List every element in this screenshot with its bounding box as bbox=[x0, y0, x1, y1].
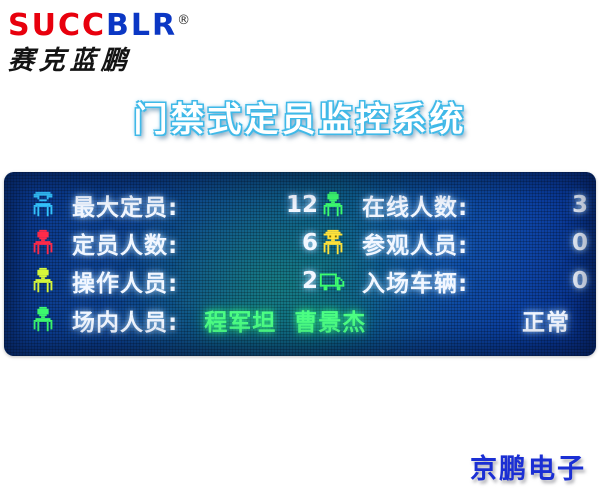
led-value: 2 bbox=[284, 268, 318, 294]
led-value: 12 bbox=[284, 192, 318, 218]
led-content: 最大定员: 12 在线人数: 3 bbox=[4, 172, 596, 356]
led-row: 最大定员: 12 在线人数: 3 bbox=[28, 186, 584, 224]
company-logo-chinese: 赛克蓝鹏 bbox=[7, 45, 219, 77]
logo-text-succ: SUCC bbox=[8, 8, 106, 43]
led-label: 在线人数: bbox=[362, 188, 554, 222]
led-value: 3 bbox=[554, 192, 588, 218]
led-label: 操作人员: bbox=[72, 264, 284, 298]
person-icon bbox=[28, 228, 58, 258]
led-label: 定员人数: bbox=[72, 226, 284, 260]
person-cap-icon bbox=[28, 190, 58, 220]
led-cell-online-count: 在线人数: 3 bbox=[318, 188, 588, 222]
led-cell-operator-count: 操作人员: 2 bbox=[28, 264, 318, 298]
logo-text-blr: BLR bbox=[106, 8, 177, 43]
page-title: 门禁式定员监控系统 bbox=[0, 92, 600, 141]
led-row-onsite-personnel: 场内人员: 程军坦曹景杰 正常 bbox=[28, 300, 584, 340]
footer-company-logo: 京鹏电子 bbox=[470, 447, 586, 486]
person-icon bbox=[28, 266, 58, 296]
company-logo-latin: SUCCBLR® bbox=[8, 4, 218, 43]
registered-trademark-icon: ® bbox=[177, 13, 190, 28]
person-icon bbox=[318, 190, 348, 220]
led-value: 0 bbox=[554, 230, 588, 256]
personnel-name: 曹景杰 bbox=[294, 310, 366, 336]
led-cell-registered-count: 定员人数: 6 bbox=[28, 226, 318, 260]
company-logo: SUCCBLR® 赛克蓝鹏 bbox=[8, 4, 218, 76]
truck-icon bbox=[318, 266, 348, 296]
status-badge: 正常 bbox=[522, 303, 584, 337]
led-row: 定员人数: 6 bbox=[28, 224, 584, 262]
led-label: 最大定员: bbox=[72, 188, 284, 222]
person-hat-icon bbox=[318, 228, 348, 258]
led-label: 入场车辆: bbox=[362, 264, 554, 298]
led-label: 参观人员: bbox=[362, 226, 554, 260]
personnel-name: 程军坦 bbox=[204, 310, 276, 336]
led-display-panel: 最大定员: 12 在线人数: 3 bbox=[4, 172, 596, 356]
led-row: 操作人员: 2 bbox=[28, 262, 584, 300]
onsite-personnel-names: 程军坦曹景杰 bbox=[204, 303, 384, 337]
led-cell-max-capacity: 最大定员: 12 bbox=[28, 188, 318, 222]
led-cell-visitor-count: 参观人员: 0 bbox=[318, 226, 588, 260]
led-label: 场内人员: bbox=[72, 303, 178, 337]
led-value: 0 bbox=[554, 268, 588, 294]
led-value: 6 bbox=[284, 230, 318, 256]
person-icon bbox=[28, 305, 58, 335]
led-cell-vehicle-count: 入场车辆: 0 bbox=[318, 264, 588, 298]
